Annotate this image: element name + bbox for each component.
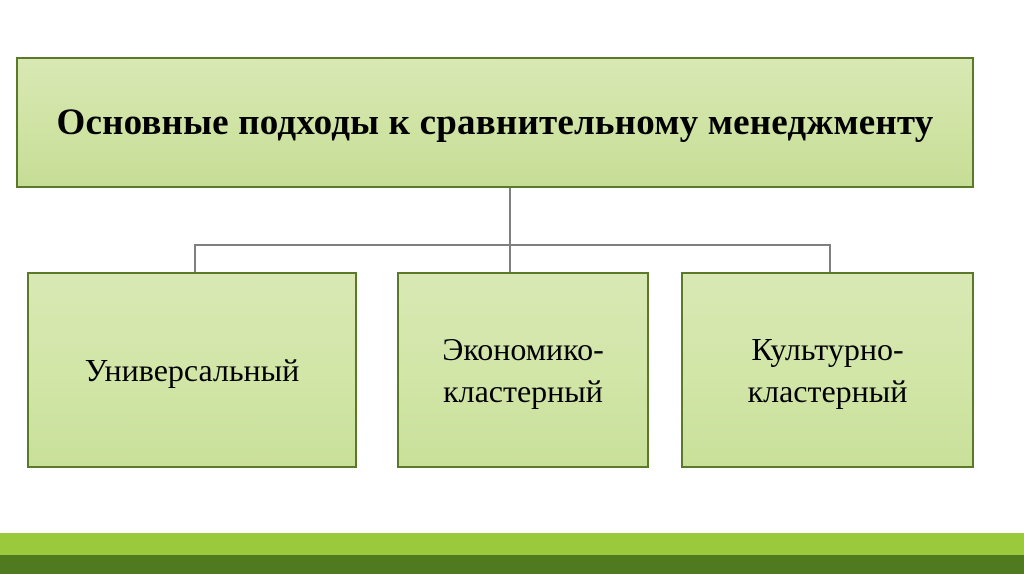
connector-vertical-left bbox=[194, 244, 196, 273]
slide-canvas: Основные подходы к сравнительному менедж… bbox=[0, 0, 1024, 574]
connector-vertical-main bbox=[509, 188, 511, 245]
connector-vertical-right bbox=[829, 244, 831, 273]
diagram-node-universal-label: Универсальный bbox=[77, 349, 308, 391]
diagram-node-cultural-cluster[interactable]: Культурно- кластерный bbox=[681, 272, 974, 468]
diagram-node-economic-cluster-label: Экономико- кластерный bbox=[434, 328, 612, 412]
diagram-node-economic-cluster[interactable]: Экономико- кластерный bbox=[397, 272, 649, 468]
connector-horizontal bbox=[194, 244, 831, 246]
connector-vertical-middle bbox=[509, 244, 511, 273]
diagram-root-node[interactable]: Основные подходы к сравнительному менедж… bbox=[16, 57, 974, 188]
footer-accent-bar-light bbox=[0, 533, 1024, 555]
diagram-node-cultural-cluster-label: Культурно- кластерный bbox=[740, 328, 916, 412]
diagram-root-node-label: Основные подходы к сравнительному менедж… bbox=[22, 99, 967, 146]
diagram-node-universal[interactable]: Универсальный bbox=[27, 272, 357, 468]
footer-accent-bar-dark bbox=[0, 555, 1024, 574]
